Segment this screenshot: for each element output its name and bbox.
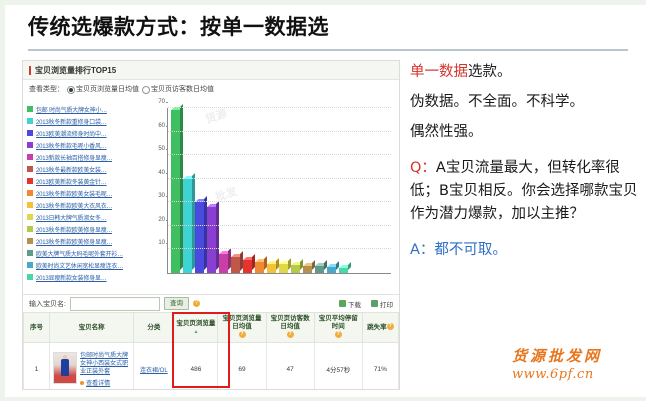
question-block: Q：A宝贝流量最大，但转化率很低；B宝贝相反。你会选择哪款宝贝作为潜力爆款，加以… (410, 157, 638, 226)
col-uv-daily-avg[interactable]: 宝贝页访客数日均值? (266, 313, 314, 343)
legend-item-label: 2013欧美新款冬装黄金针… (36, 177, 107, 186)
legend-swatch-icon (27, 190, 33, 196)
view-type-row: 查看类型： 宝贝页浏览量日均值 宝贝页访客数日均值 (23, 80, 399, 98)
cell-avg-stay: 4分57秒 (314, 343, 362, 391)
table-search-row: 输入宝贝名: 查询 ? 下载 打印 (23, 295, 399, 312)
cell-index: 1 (24, 343, 50, 391)
chart-gridline (168, 107, 391, 108)
legend-swatch-icon (27, 166, 33, 172)
legend-item[interactable]: 2013日韩大牌气质淑女冬… (27, 211, 145, 223)
col-product-name[interactable]: 宝贝名称 (50, 313, 134, 343)
cell-category: 连衣裙/OL (134, 343, 174, 391)
commentary-column: 单一数据选款。 伪数据。不全面。不科学。 偶然性强。 Q：A宝贝流量最大，但转化… (410, 62, 638, 261)
legend-swatch-icon (27, 262, 33, 268)
search-input[interactable] (70, 297, 160, 311)
print-label: 打印 (380, 299, 393, 309)
page-title: 传统选爆款方式：按单一数据选 (28, 14, 628, 42)
legend-item-label: 2013秋冬新款重修身口袋… (36, 117, 107, 126)
view-type-label: 查看类型： (29, 84, 64, 94)
product-cell-inner: 包邮时尚气质大牌女神小西装女式职业正装外套 查看详情 (51, 352, 132, 387)
cell-uv-daily-avg: 47 (266, 343, 314, 391)
col-pageviews[interactable]: 宝贝页浏览量▲ (174, 313, 218, 343)
chart-bar[interactable] (183, 179, 194, 273)
sort-icon-pageviews[interactable]: ▲ (193, 329, 198, 335)
legend-item[interactable]: 2013秋冬新款欧美女装毛呢… (27, 187, 145, 199)
view-detail-label: 查看详情 (86, 381, 110, 387)
col-index[interactable]: 序号 (24, 313, 50, 343)
help-icon-pv[interactable]: ? (239, 331, 246, 338)
bullet-icon (80, 381, 84, 385)
chart-bar[interactable] (291, 265, 302, 273)
legend-item[interactable]: 2013秋冬最新款欧美女装… (27, 163, 145, 175)
legend-item[interactable]: 2013秋冬新款毛呢小香风… (27, 139, 145, 151)
commentary-line-1: 单一数据选款。 (410, 62, 638, 83)
chart-plot: 货源 批发 10203040506070 (145, 102, 393, 290)
chart-bar[interactable] (195, 202, 206, 273)
legend-item-label: 2013秋冬新款欧美修身显瘦… (36, 237, 112, 246)
view-detail-link[interactable]: 查看详情 (80, 378, 132, 387)
data-table: 序号 宝贝名称 分类 宝贝页浏览量▲ 宝贝页浏览量日均值? 宝贝页访客数日均值?… (23, 312, 399, 390)
legend-item[interactable]: 2013显瘦新款女装修身显… (27, 271, 145, 283)
product-info: 包邮时尚气质大牌女神小西装女式职业正装外套 查看详情 (80, 352, 132, 387)
product-name-link[interactable]: 包邮时尚气质大牌女神小西装女式职业正装外套 (80, 353, 128, 375)
legend-item[interactable]: 欧美大牌气质大码毛呢外套开衫… (27, 247, 145, 259)
col-category[interactable]: 分类 (134, 313, 174, 343)
chart-bar[interactable] (303, 266, 314, 273)
legend-item-label: 2013新款长袖百搭修身显瘦… (36, 153, 112, 162)
legend-item-label: 2013秋冬新款毛呢小香风… (36, 141, 107, 150)
chart-gridline (168, 154, 391, 155)
legend-swatch-icon (27, 202, 33, 208)
legend-swatch-icon (27, 238, 33, 244)
col-pv-daily-avg[interactable]: 宝贝页浏览量日均值? (218, 313, 266, 343)
chart-bar[interactable] (219, 254, 230, 273)
radio-icon-uv[interactable] (142, 86, 150, 94)
app-screenshot-panel: 宝贝浏览量排行TOP15 查看类型： 宝贝页浏览量日均值 宝贝页访客数日均值 包… (22, 60, 400, 390)
legend-item[interactable]: 欧美时尚文艺休闲宽松显瘦连衣… (27, 259, 145, 271)
download-icon (339, 300, 346, 307)
legend-swatch-icon (27, 154, 33, 160)
legend-item[interactable]: 2013秋冬新款欧美大衣风衣… (27, 199, 145, 211)
legend-swatch-icon (27, 274, 33, 280)
chart-bar[interactable] (207, 207, 218, 273)
radio-option-uv[interactable]: 宝贝页访客数日均值 (142, 84, 214, 94)
cell-bounce-rate: 71% (362, 343, 398, 391)
legend-item-label: 2013欧美潮流修身时尚中… (36, 129, 107, 138)
slide-edge-left (0, 0, 5, 401)
legend-item-label: 2013秋冬新款欧美女装毛呢… (36, 189, 112, 198)
chart-bar[interactable] (327, 267, 338, 273)
y-axis-tick-label: 60 (158, 123, 168, 129)
slide-edge-bottom (0, 397, 646, 401)
commentary-line-2: 伪数据。不全面。不科学。 (410, 92, 638, 113)
legend-item[interactable]: 2013秋冬新款重修身口袋… (27, 115, 145, 127)
question-prefix: Q： (410, 160, 436, 176)
chart-bar[interactable] (315, 266, 326, 273)
legend-swatch-icon (27, 226, 33, 232)
help-icon-uv[interactable]: ? (287, 331, 294, 338)
watermark-name: 货源批发网 (512, 345, 602, 366)
answer-block: A：都不可取。 (410, 240, 638, 261)
site-watermark: 货源批发网 www.6pf.cn (512, 345, 602, 382)
table-row: 1 包邮时尚气质大牌女神小西装女式职业正装外套 查看详情 (24, 343, 399, 391)
legend-item[interactable]: 2013欧美潮流修身时尚中… (27, 127, 145, 139)
y-axis-tick-label: 30 (158, 193, 168, 199)
chart-area: 包邮 时尚气质大牌女神小…2013秋冬新款重修身口袋…2013欧美潮流修身时尚中… (23, 98, 399, 295)
panel-header: 宝贝浏览量排行TOP15 (23, 61, 399, 80)
chart-bar[interactable] (279, 264, 290, 273)
chart-legend: 包邮 时尚气质大牌女神小…2013秋冬新款重修身口袋…2013欧美潮流修身时尚中… (23, 98, 145, 294)
y-axis-tick-label: 40 (158, 170, 168, 176)
thumbnail-model-dress (61, 359, 69, 376)
chart-gridline (168, 225, 391, 226)
slide-edge-top (0, 0, 646, 5)
legend-item-label: 2013秋冬新款欧美大衣风衣… (36, 201, 112, 210)
legend-item-label: 欧美大牌气质大码毛呢外套开衫… (36, 249, 123, 258)
col-bounce-rate[interactable]: 跳失率? (362, 313, 398, 343)
legend-swatch-icon (27, 250, 33, 256)
slide-root: 传统选爆款方式：按单一数据选 宝贝浏览量排行TOP15 查看类型： 宝贝页浏览量… (0, 0, 646, 401)
panel-accent-bar (29, 66, 31, 75)
chart-bar[interactable] (255, 262, 266, 273)
chart-gridline (168, 131, 391, 132)
legend-item-label: 2013日韩大牌气质淑女冬… (36, 213, 107, 222)
y-axis-tick-label: 20 (158, 217, 168, 223)
legend-item[interactable]: 2013秋冬新款欧美修身显瘦… (27, 223, 145, 235)
cell-pv-daily-avg: 69 (218, 343, 266, 391)
query-button[interactable]: 查询 (164, 297, 189, 310)
download-button[interactable]: 下载 (339, 299, 361, 309)
commentary-line-1-emphasis: 单一数据 (410, 64, 468, 80)
legend-item[interactable]: 2013秋冬新款欧美修身显瘦… (27, 235, 145, 247)
printer-icon (371, 300, 378, 307)
radio-icon-pv[interactable] (67, 86, 75, 94)
legend-swatch-icon (27, 142, 33, 148)
chart-gridline (168, 248, 391, 249)
help-icon-stay[interactable]: ? (335, 331, 342, 338)
download-label: 下载 (348, 299, 361, 309)
chart-axes: 10203040506070 (167, 108, 391, 274)
help-icon[interactable]: ? (193, 300, 200, 307)
legend-item[interactable]: 2013新款长袖百搭修身显瘦… (27, 151, 145, 163)
radio-label-uv: 宝贝页访客数日均值 (151, 84, 214, 94)
cell-pageviews: 486 (174, 343, 218, 391)
cell-product: 包邮时尚气质大牌女神小西装女式职业正装外套 查看详情 (50, 343, 134, 391)
help-icon-bounce[interactable]: ? (387, 323, 394, 330)
commentary-line-3: 偶然性强。 (410, 122, 638, 143)
chart-bar[interactable] (267, 264, 278, 273)
question-text: A宝贝流量最大，但转化率很低；B宝贝相反。你会选择哪款宝贝作为潜力爆款，加以主推… (410, 160, 637, 222)
chart-bar[interactable] (231, 257, 242, 274)
legend-swatch-icon (27, 178, 33, 184)
legend-swatch-icon (27, 214, 33, 220)
chart-gridline (168, 178, 391, 179)
watermark-url: www.6pf.cn (512, 367, 602, 382)
chart-bar-side-face (348, 262, 351, 270)
thumbnail-model-head (63, 355, 67, 359)
chart-bar[interactable] (339, 268, 350, 273)
y-axis-tick-label: 50 (158, 146, 168, 152)
legend-swatch-icon (27, 118, 33, 124)
legend-item[interactable]: 2013欧美新款冬装黄金针… (27, 175, 145, 187)
y-axis-tick-label: 10 (158, 240, 168, 246)
chart-bar[interactable] (243, 260, 254, 273)
legend-item-label: 欧美时尚文艺休闲宽松显瘦连衣… (36, 261, 123, 270)
col-avg-stay[interactable]: 宝贝平均停留时间? (314, 313, 362, 343)
table-header-row: 序号 宝贝名称 分类 宝贝页浏览量▲ 宝贝页浏览量日均值? 宝贝页访客数日均值?… (24, 313, 399, 343)
legend-item-label: 2013秋冬最新款欧美女装… (36, 165, 107, 174)
legend-item-label: 2013显瘦新款女装修身显… (36, 273, 107, 282)
y-axis-tick-label: 70 (158, 99, 168, 105)
legend-item[interactable]: 包邮 时尚气质大牌女神小… (27, 103, 145, 115)
print-button[interactable]: 打印 (371, 299, 393, 309)
chart-gridline (168, 201, 391, 202)
category-link[interactable]: 连衣裙/OL (140, 368, 168, 374)
search-label: 输入宝贝名: (29, 299, 66, 309)
radio-label-pv: 宝贝页浏览量日均值 (76, 84, 139, 94)
legend-swatch-icon (27, 106, 33, 112)
legend-item-label: 包邮 时尚气质大牌女神小… (36, 105, 107, 114)
legend-swatch-icon (27, 130, 33, 136)
page-title-text: 传统选爆款方式：按单一数据选 (28, 14, 628, 42)
legend-item-label: 2013秋冬新款欧美修身显瘦… (36, 225, 112, 234)
panel-title: 宝贝浏览量排行TOP15 (35, 65, 116, 76)
commentary-line-1-rest: 选款。 (468, 64, 512, 80)
title-divider (28, 49, 628, 51)
product-thumbnail[interactable] (53, 352, 77, 384)
radio-option-pv[interactable]: 宝贝页浏览量日均值 (67, 84, 139, 94)
